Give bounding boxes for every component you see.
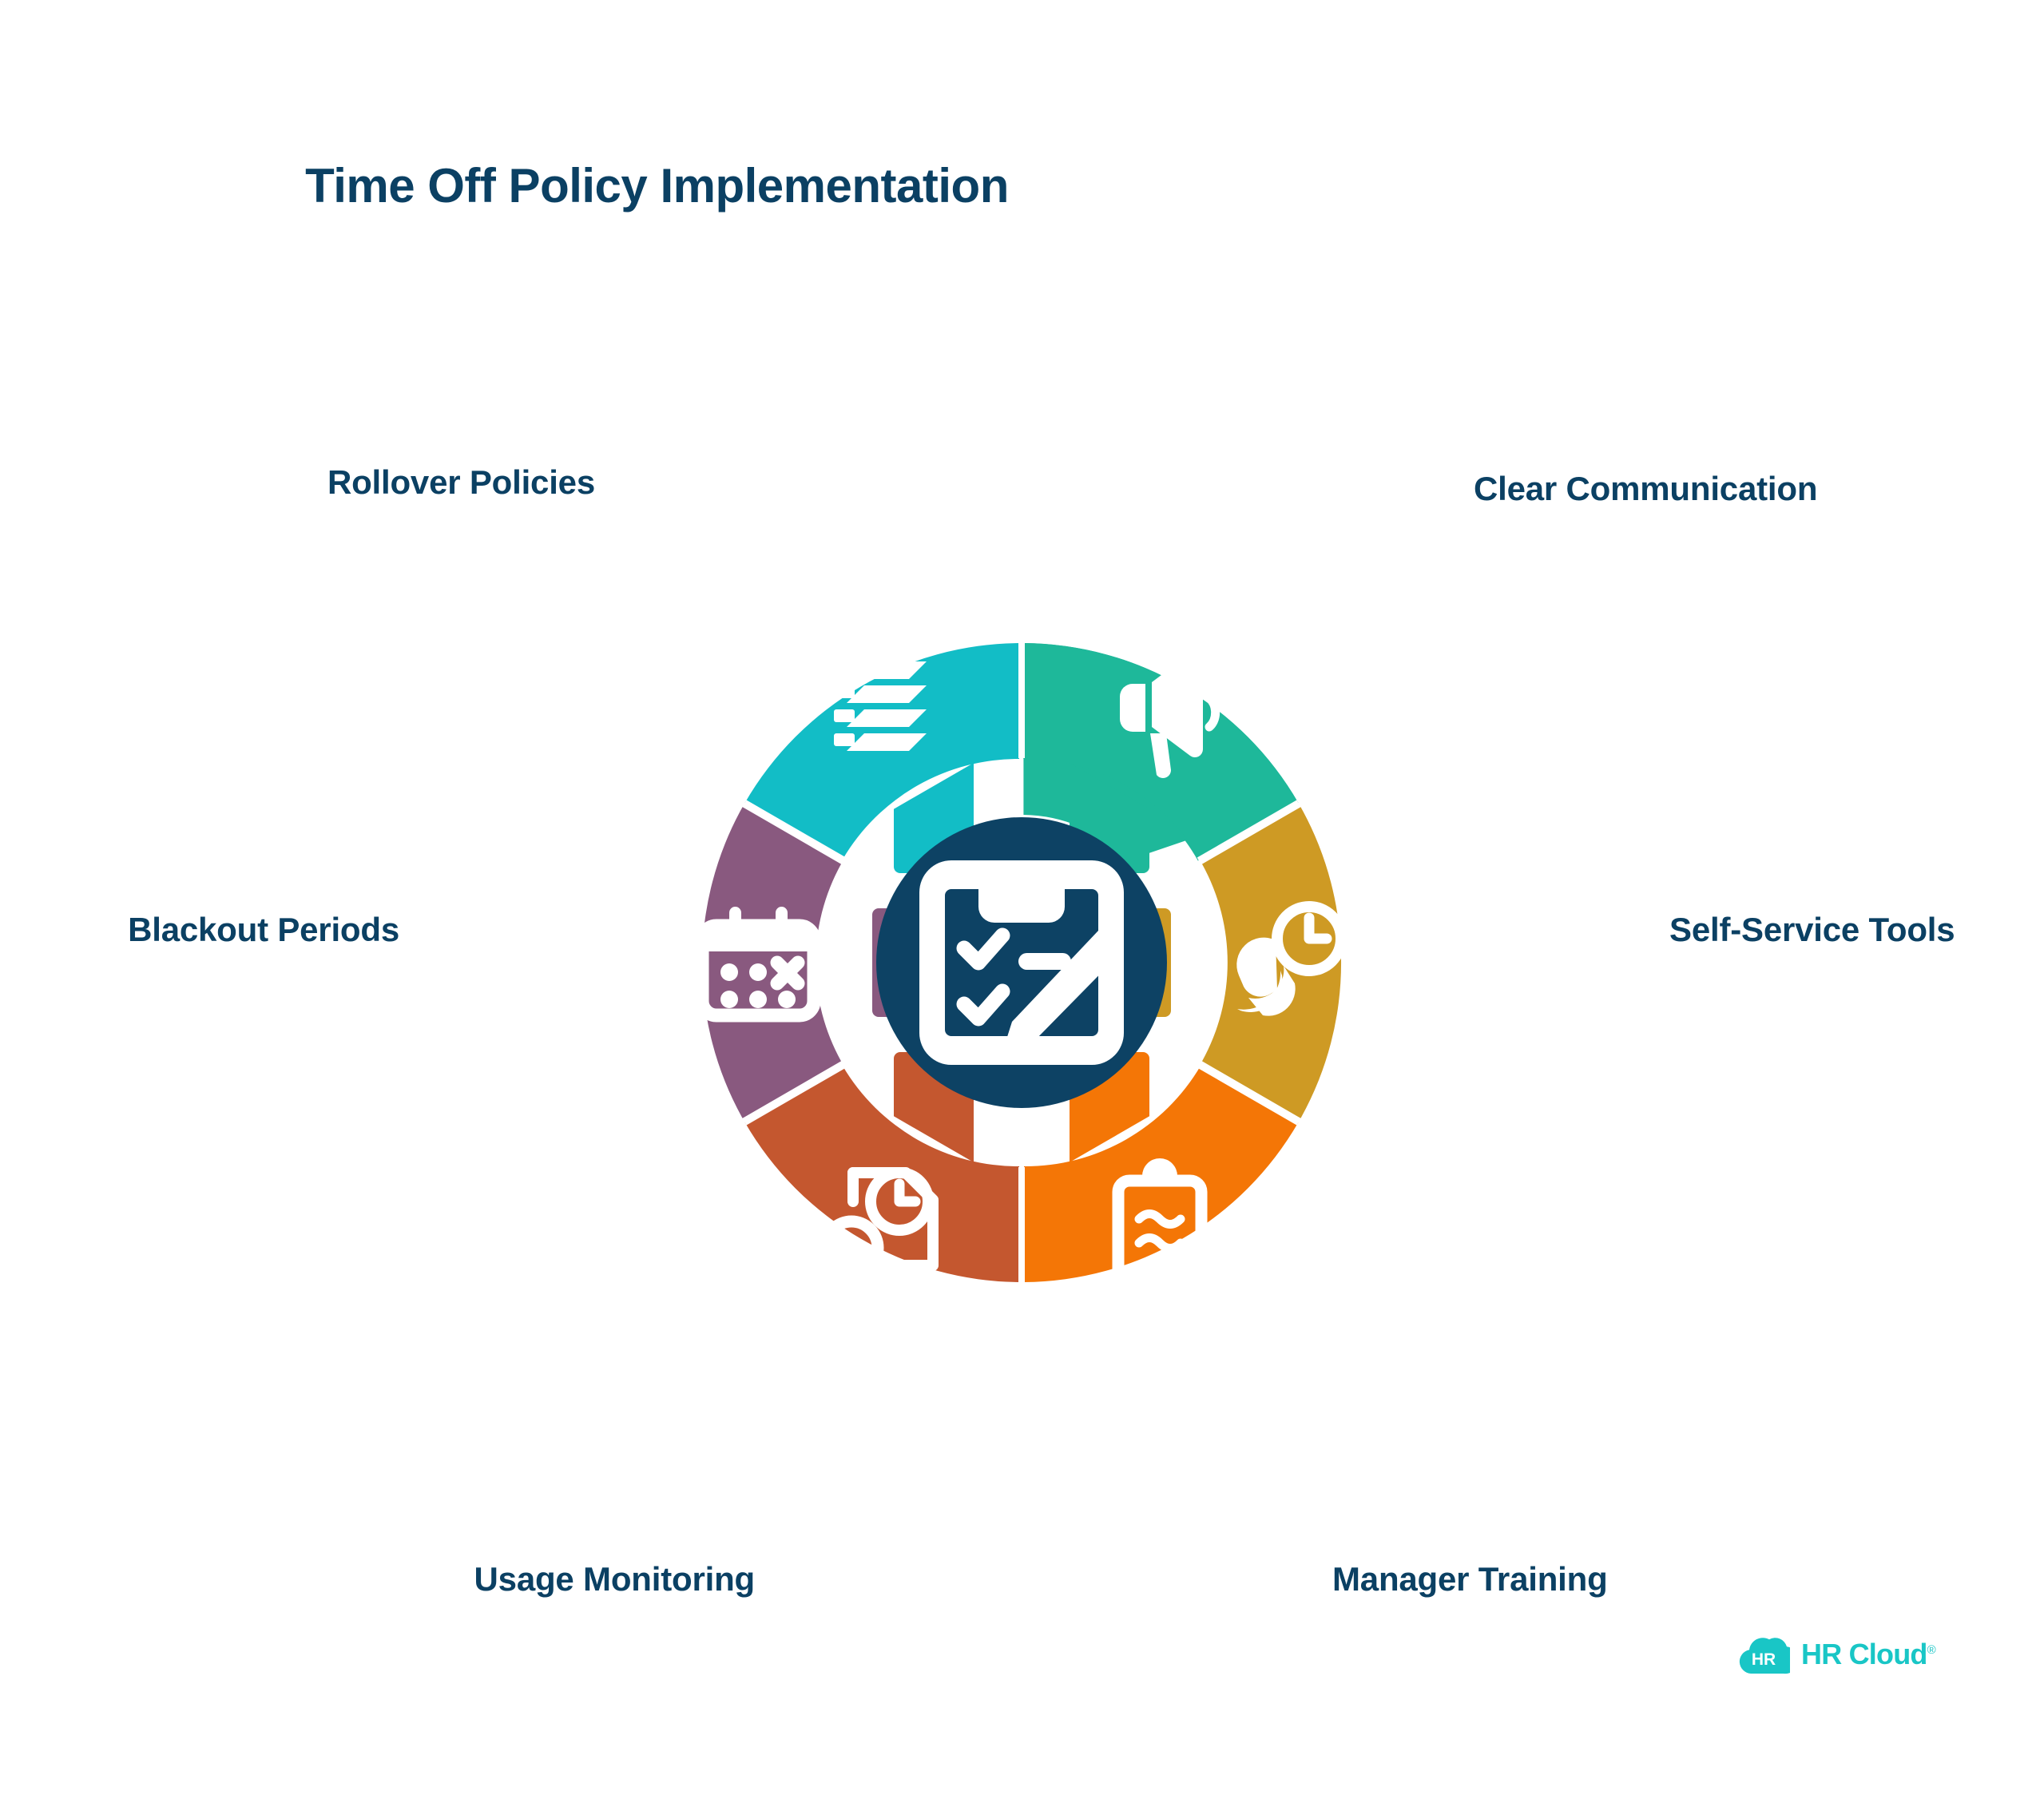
hr-cloud-logo[interactable]: HR HR Cloud® xyxy=(1737,1632,1935,1677)
segment-manager-training[interactable] xyxy=(1024,1052,1298,1282)
segment-label-self-service-tools[interactable]: Self-Service Tools xyxy=(1669,911,2044,949)
segment-label-blackout-periods[interactable]: Blackout Periods xyxy=(0,911,399,949)
cloud-icon: HR xyxy=(1737,1632,1790,1677)
segment-label-usage-monitoring[interactable]: Usage Monitoring xyxy=(0,1560,755,1598)
logo-name: HR Cloud xyxy=(1801,1638,1927,1670)
logo-wordmark: HR Cloud® xyxy=(1801,1638,1935,1671)
segment-rollover-policies[interactable] xyxy=(745,643,1019,873)
segment-usage-monitoring[interactable] xyxy=(745,1052,1019,1283)
segment-blackout-periods[interactable] xyxy=(702,807,974,1118)
page-title: Time Off Policy Implementation xyxy=(0,158,2044,213)
clipboard-checklist-pencil-icon xyxy=(919,860,1124,1065)
segment-label-clear-communication[interactable]: Clear Communication xyxy=(1474,470,2033,508)
segment-self-service-tools[interactable] xyxy=(1070,807,1341,1118)
cloud-badge-text: HR xyxy=(1752,1650,1776,1669)
segment-clear-communication[interactable] xyxy=(1023,643,1298,873)
registered-mark: ® xyxy=(1927,1643,1935,1657)
circular-diagram xyxy=(0,0,2044,1807)
segment-label-rollover-policies[interactable]: Rollover Policies xyxy=(0,463,595,502)
center-hub xyxy=(876,817,1167,1108)
page-title-text: Time Off Policy Implementation xyxy=(305,158,1009,213)
segment-label-manager-training[interactable]: Manager Training xyxy=(1332,1560,1891,1598)
